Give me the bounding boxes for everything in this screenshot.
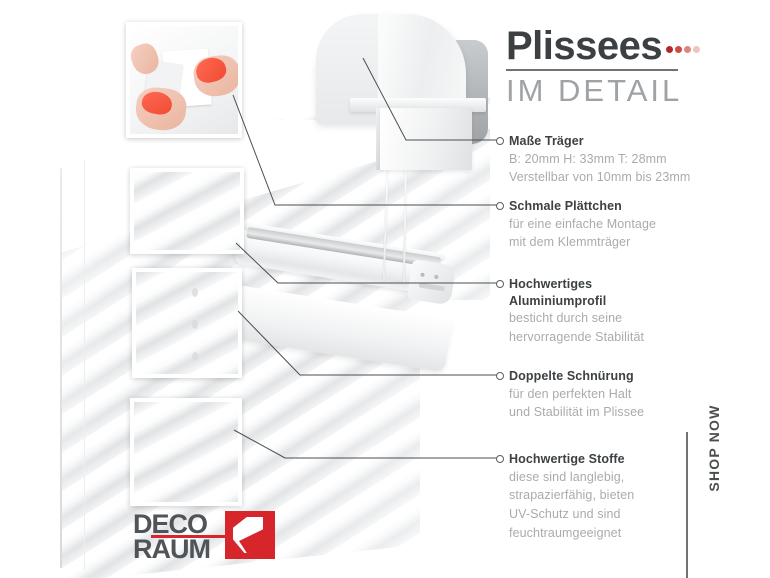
feature-schmale-plaettchen: Schmale Plättchen für eine einfache Mont… — [509, 198, 749, 252]
page-subtitle: IM DETAIL — [506, 75, 756, 108]
connector-line-masse-traeger — [363, 58, 499, 140]
feature-body-line: hervorragende Stabilität — [509, 329, 749, 347]
bullet-schmale-plaettchen — [496, 202, 504, 210]
feature-body-line: besticht durch seine — [509, 310, 749, 328]
feature-body-line: Verstellbar von 10mm bis 23mm — [509, 169, 749, 187]
connector-line-hochwertige-stoffe — [234, 430, 499, 458]
connector-line-aluminiumprofil — [236, 243, 499, 283]
bullet-aluminiumprofil — [496, 280, 504, 288]
feature-body-line: UV-Schutz und sind — [509, 506, 749, 524]
logo-accent-bar — [151, 535, 225, 538]
page-title: Plissees — [506, 26, 662, 66]
title-dot-2 — [675, 46, 682, 53]
title-dot-4 — [693, 46, 700, 53]
feature-body-line: B: 20mm H: 33mm T: 28mm — [509, 151, 749, 169]
feature-title-line-2: Aluminiumprofil — [509, 293, 749, 310]
feature-masse-traeger: Maße Träger B: 20mm H: 33mm T: 28mm Vers… — [509, 133, 749, 187]
bullet-masse-traeger — [496, 137, 504, 145]
feature-title: Doppelte Schnürung — [509, 368, 749, 385]
title-underline — [506, 69, 678, 71]
logo-mark-icon — [225, 511, 275, 559]
connector-line-schmale-plaettchen — [233, 95, 499, 205]
feature-title-line-1: Hochwertiges — [509, 276, 749, 293]
feature-title: Maße Träger — [509, 133, 749, 150]
infographic-canvas: Plissees IM DETAIL Maße Träger B: 20mm H… — [0, 0, 770, 578]
connector-line-doppelte-schnuerung — [238, 311, 499, 375]
title-dots — [664, 40, 700, 58]
shop-now-divider — [686, 432, 688, 578]
brand-logo[interactable]: DECO RAUM — [133, 512, 275, 562]
title-dot-3 — [684, 46, 691, 53]
feature-body-line: für eine einfache Montage — [509, 216, 749, 234]
bullet-hochwertige-stoffe — [496, 455, 504, 463]
feature-body-line: mit dem Klemmträger — [509, 234, 749, 252]
feature-aluminiumprofil: Hochwertiges Aluminiumprofil besticht du… — [509, 276, 749, 347]
bullet-doppelte-schnuerung — [496, 372, 504, 380]
feature-title: Schmale Plättchen — [509, 198, 749, 215]
shop-now-button[interactable]: SHOP NOW — [706, 393, 722, 503]
header: Plissees IM DETAIL — [506, 26, 756, 108]
feature-body-line: feuchtraumgeeignet — [509, 525, 749, 543]
title-dot-1 — [666, 46, 673, 53]
